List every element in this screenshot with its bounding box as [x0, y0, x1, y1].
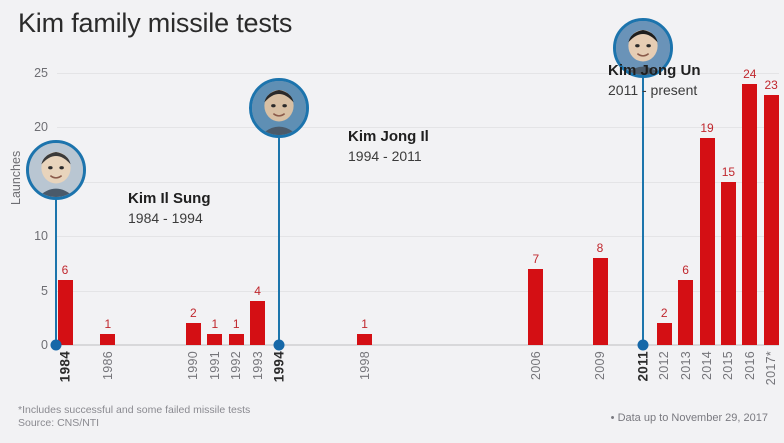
bar-value-label: 1: [211, 317, 218, 331]
y-axis-tick-label: 25: [34, 66, 48, 80]
leader-annotation-1: Kim Il Sung1984 - 1994: [128, 190, 211, 227]
x-axis-tick-label: 1986: [101, 351, 115, 380]
bar[interactable]: [357, 334, 372, 345]
leader-marker-line: [278, 135, 280, 345]
leader-portrait-2: [249, 78, 309, 138]
bar[interactable]: [678, 280, 693, 345]
chart-container: Kim family missile tests 051015202561211…: [0, 0, 784, 443]
y-axis-tick-label: 20: [34, 120, 48, 134]
bar-value-label: 2: [661, 306, 668, 320]
bar[interactable]: [528, 269, 543, 345]
bar[interactable]: [721, 182, 736, 345]
x-axis-tick-label: 2006: [529, 351, 543, 380]
bar-value-label: 15: [722, 165, 735, 179]
leader-marker-dot: [274, 340, 285, 351]
bar[interactable]: [250, 301, 265, 345]
footnote-includes: *Includes successful and some failed mis…: [18, 404, 250, 416]
bar-value-label: 6: [682, 263, 689, 277]
bar[interactable]: [100, 334, 115, 345]
bar[interactable]: [593, 258, 608, 345]
bar-value-label: 8: [597, 241, 604, 255]
bar-value-label: 1: [361, 317, 368, 331]
x-axis-tick-label: 2012: [657, 351, 671, 380]
x-axis-tick-label: 1993: [251, 351, 265, 380]
data-up-to-label: • Data up to November 29, 2017: [611, 412, 768, 424]
bar[interactable]: [742, 84, 757, 345]
bar-value-label: 4: [254, 284, 261, 298]
x-axis-tick-label: 1991: [208, 351, 222, 380]
y-axis-tick-label: 5: [41, 284, 48, 298]
bar[interactable]: [58, 280, 73, 345]
x-axis-tick-label: 2014: [700, 351, 714, 380]
x-axis-tick-label: 2011: [635, 351, 650, 382]
bar-value-label: 2: [190, 306, 197, 320]
gridline: [57, 345, 779, 346]
x-axis-tick-label: 2009: [593, 351, 607, 380]
y-axis-tick-label: 10: [34, 229, 48, 243]
bar-value-label: 23: [765, 78, 778, 92]
leader-marker-dot: [637, 340, 648, 351]
leader-years: 2011 - present: [608, 81, 701, 99]
bar-value-label: 6: [62, 263, 69, 277]
chart-title: Kim family missile tests: [18, 8, 292, 39]
x-axis-tick-label: 1990: [186, 351, 200, 380]
leader-years: 1984 - 1994: [128, 209, 211, 227]
x-axis-tick-label: 1992: [229, 351, 243, 380]
bar-value-label: 1: [104, 317, 111, 331]
x-axis-tick-label: 2015: [721, 351, 735, 380]
x-axis-tick-label: 2017*: [764, 351, 778, 385]
leader-marker-line: [55, 197, 57, 345]
leader-name: Kim Jong Un: [608, 62, 701, 81]
bar-value-label: 19: [700, 121, 713, 135]
bar[interactable]: [764, 95, 779, 345]
gridline: [57, 182, 779, 183]
gridline: [57, 236, 779, 237]
bar[interactable]: [700, 138, 715, 345]
y-axis-title: Launches: [9, 151, 23, 205]
leader-marker-dot: [51, 340, 62, 351]
bar[interactable]: [657, 323, 672, 345]
y-axis-tick-label: 0: [41, 338, 48, 352]
leader-annotation-3: Kim Jong Un2011 - present: [608, 62, 701, 99]
x-axis-tick-label: 1994: [272, 351, 287, 382]
leader-portrait-1: [26, 140, 86, 200]
x-axis-tick-label: 1984: [58, 351, 73, 382]
x-axis-tick-label: 2013: [679, 351, 693, 380]
leader-annotation-2: Kim Jong Il1994 - 2011: [348, 128, 429, 165]
leader-name: Kim Il Sung: [128, 190, 211, 209]
bar[interactable]: [229, 334, 244, 345]
x-axis-tick-label: 2016: [743, 351, 757, 380]
leader-name: Kim Jong Il: [348, 128, 429, 147]
gridline: [57, 291, 779, 292]
leader-years: 1994 - 2011: [348, 147, 429, 165]
bar-value-label: 7: [532, 252, 539, 266]
x-axis-tick-label: 1998: [358, 351, 372, 380]
bar-value-label: 24: [743, 67, 756, 81]
bar[interactable]: [186, 323, 201, 345]
bar-value-label: 1: [233, 317, 240, 331]
bar[interactable]: [207, 334, 222, 345]
leader-marker-line: [642, 75, 644, 345]
footnote-source: Source: CNS/NTI: [18, 417, 99, 429]
